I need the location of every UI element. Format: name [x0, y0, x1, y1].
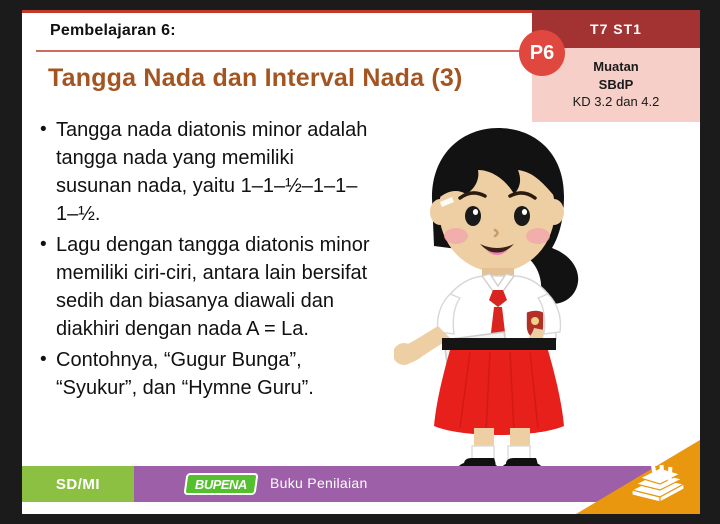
bullet-marker: •: [40, 116, 56, 228]
lesson-kicker: Pembelajaran 6:: [50, 22, 176, 40]
screenshot-root: Pembelajaran 6: Tangga Nada dan Interval…: [0, 0, 720, 524]
subject-name: SBdP: [599, 77, 634, 93]
bupena-logo-label: BUPENA: [195, 477, 247, 492]
list-item: • Contohnya, “Gugur Bunga”, “Syukur”, da…: [40, 346, 370, 402]
footer-corner: [576, 440, 700, 514]
kicker-divider: [36, 50, 532, 52]
competency-code: KD 3.2 dan 4.2: [573, 94, 660, 111]
bullet-marker: •: [40, 231, 56, 343]
subject-muatan-label: Muatan: [593, 59, 639, 75]
page-title: Tangga Nada dan Interval Nada (3): [48, 64, 463, 93]
stack-of-books-icon: [626, 460, 688, 502]
schoolgirl-illustration: [394, 126, 604, 474]
education-level-label: SD/MI: [56, 476, 100, 493]
bullet-text: Contohnya, “Gugur Bunga”, “Syukur”, dan …: [56, 346, 370, 402]
bullet-list: • Tangga nada diatonis minor adalah tang…: [40, 116, 370, 405]
bullet-text: Tangga nada diatonis minor adalah tangga…: [56, 116, 370, 228]
theme-subtheme-label: T7 ST1: [590, 21, 642, 37]
lesson-badge: P6: [519, 30, 565, 76]
list-item: • Tangga nada diatonis minor adalah tang…: [40, 116, 370, 228]
bupena-logo: BUPENA: [183, 473, 258, 495]
slide-canvas: Pembelajaran 6: Tangga Nada dan Interval…: [22, 10, 700, 514]
education-level-block: SD/MI: [22, 466, 134, 502]
footer-caption: Buku Penilaian: [270, 475, 368, 491]
list-item: • Lagu dengan tangga diatonis minor memi…: [40, 231, 370, 343]
bullet-text: Lagu dengan tangga diatonis minor memili…: [56, 231, 370, 343]
bullet-marker: •: [40, 346, 56, 402]
lesson-badge-label: P6: [530, 43, 554, 63]
top-red-rule: [22, 10, 532, 13]
